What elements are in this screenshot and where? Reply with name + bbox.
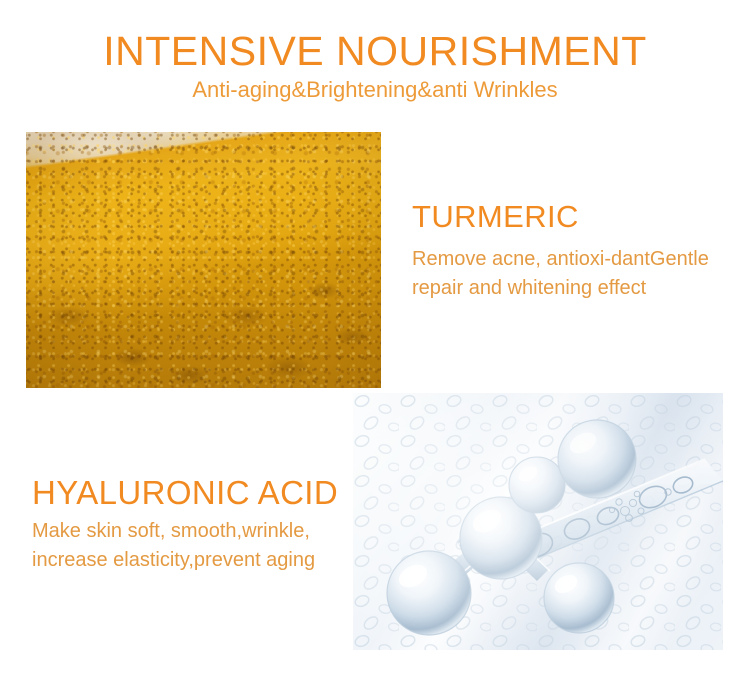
hyaluronic-acid-heading: HYALURONIC ACID [32, 474, 338, 512]
turmeric-heading: TURMERIC [412, 199, 579, 235]
turmeric-description: Remove acne, antioxi-dantGentle repair a… [412, 245, 712, 303]
molecule-image-vignette [353, 393, 723, 650]
turmeric-image-vignette [26, 132, 381, 388]
page-subtitle: Anti-aging&Brightening&anti Wrinkles [0, 76, 750, 104]
turmeric-powder-image [26, 132, 381, 388]
hyaluronic-molecule-image [353, 393, 723, 650]
page-title: INTENSIVE NOURISHMENT [0, 28, 750, 74]
hyaluronic-acid-description: Make skin soft, smooth,wrinkle, increase… [32, 517, 352, 575]
product-infographic-page: INTENSIVE NOURISHMENT Anti-aging&Brighte… [0, 0, 750, 673]
